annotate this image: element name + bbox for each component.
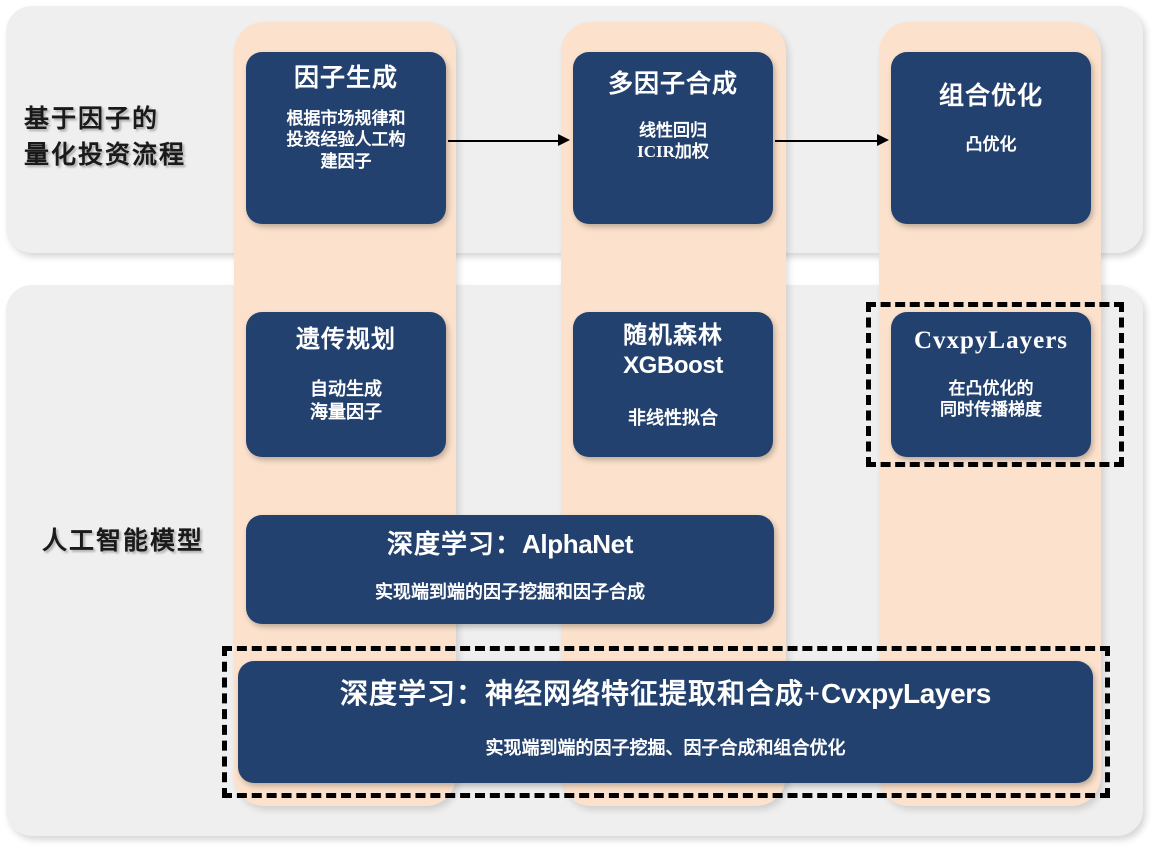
arrow-multi-factor-to-portfolio-head-icon: [877, 134, 889, 146]
box-multi-factor-combination-subtitle: 线性回归 ICIR加权: [637, 120, 709, 164]
diagram-canvas: 基于因子的 量化投资流程 人工智能模型 因子生成 根据市场规律和 投资经验人工构…: [0, 0, 1164, 849]
box-factor-generation-sub-line1: 根据市场规律和: [287, 108, 406, 130]
box-deep-learning-alphanet-subtitle: 实现端到端的因子挖掘和因子合成: [375, 581, 645, 604]
row-label-ai-models: 人工智能模型: [42, 524, 242, 560]
box-genetic-programming[interactable]: 遗传规划 自动生成 海量因子: [246, 312, 446, 457]
box-factor-generation-sub-line2: 投资经验人工构: [287, 129, 406, 151]
box-genetic-programming-sub-line1: 自动生成: [310, 378, 382, 401]
box-genetic-programming-subtitle: 自动生成 海量因子: [310, 378, 382, 424]
box-deep-learning-alphanet[interactable]: 深度学习：AlphaNet 实现端到端的因子挖掘和因子合成: [246, 515, 774, 624]
box-portfolio-optimization-sub-line1: 凸优化: [966, 134, 1017, 156]
box-deep-learning-alphanet-title-cjk: 深度学习：: [387, 530, 522, 559]
arrow-factor-gen-to-multi-factor-line: [448, 140, 560, 142]
box-deep-learning-alphanet-title-latin: AlphaNet: [522, 529, 633, 559]
box-random-forest-xgboost[interactable]: 随机森林 XGBoost 非线性拟合: [573, 312, 773, 457]
row-label-quant-process: 基于因子的 量化投资流程: [24, 102, 229, 173]
box-multi-factor-combination[interactable]: 多因子合成 线性回归 ICIR加权: [573, 52, 773, 224]
arrow-multi-factor-to-portfolio-line: [775, 140, 879, 142]
box-factor-generation-sub-line3: 建因子: [287, 151, 406, 173]
box-multi-factor-combination-sub-line2: ICIR加权: [637, 141, 709, 163]
box-portfolio-optimization-subtitle: 凸优化: [966, 134, 1017, 156]
box-random-forest-xgboost-title-line1: 随机森林: [623, 322, 723, 351]
box-deep-learning-alphanet-title: 深度学习：AlphaNet: [387, 529, 633, 561]
box-genetic-programming-title: 遗传规划: [296, 326, 396, 354]
box-random-forest-xgboost-sub-line1: 非线性拟合: [628, 407, 718, 430]
row-label-quant-process-line1: 基于因子的: [24, 102, 229, 138]
box-random-forest-xgboost-title: 随机森林 XGBoost: [623, 322, 723, 381]
highlight-cvxpylayers: [866, 302, 1124, 467]
row-label-quant-process-line2: 量化投资流程: [24, 138, 229, 174]
box-multi-factor-combination-sub-line1: 线性回归: [637, 120, 709, 142]
box-portfolio-optimization[interactable]: 组合优化 凸优化: [891, 52, 1091, 224]
box-factor-generation-subtitle: 根据市场规律和 投资经验人工构 建因子: [287, 108, 406, 173]
box-genetic-programming-sub-line2: 海量因子: [310, 401, 382, 424]
arrow-factor-gen-to-multi-factor-head-icon: [558, 134, 570, 146]
box-random-forest-xgboost-title-line2: XGBoost: [623, 351, 723, 380]
box-multi-factor-combination-title: 多因子合成: [608, 70, 738, 100]
box-random-forest-xgboost-subtitle: 非线性拟合: [628, 407, 718, 430]
box-factor-generation[interactable]: 因子生成 根据市场规律和 投资经验人工构 建因子: [246, 52, 446, 224]
highlight-end-to-end: [222, 646, 1110, 798]
box-factor-generation-title: 因子生成: [294, 64, 398, 94]
box-portfolio-optimization-title: 组合优化: [939, 82, 1043, 112]
